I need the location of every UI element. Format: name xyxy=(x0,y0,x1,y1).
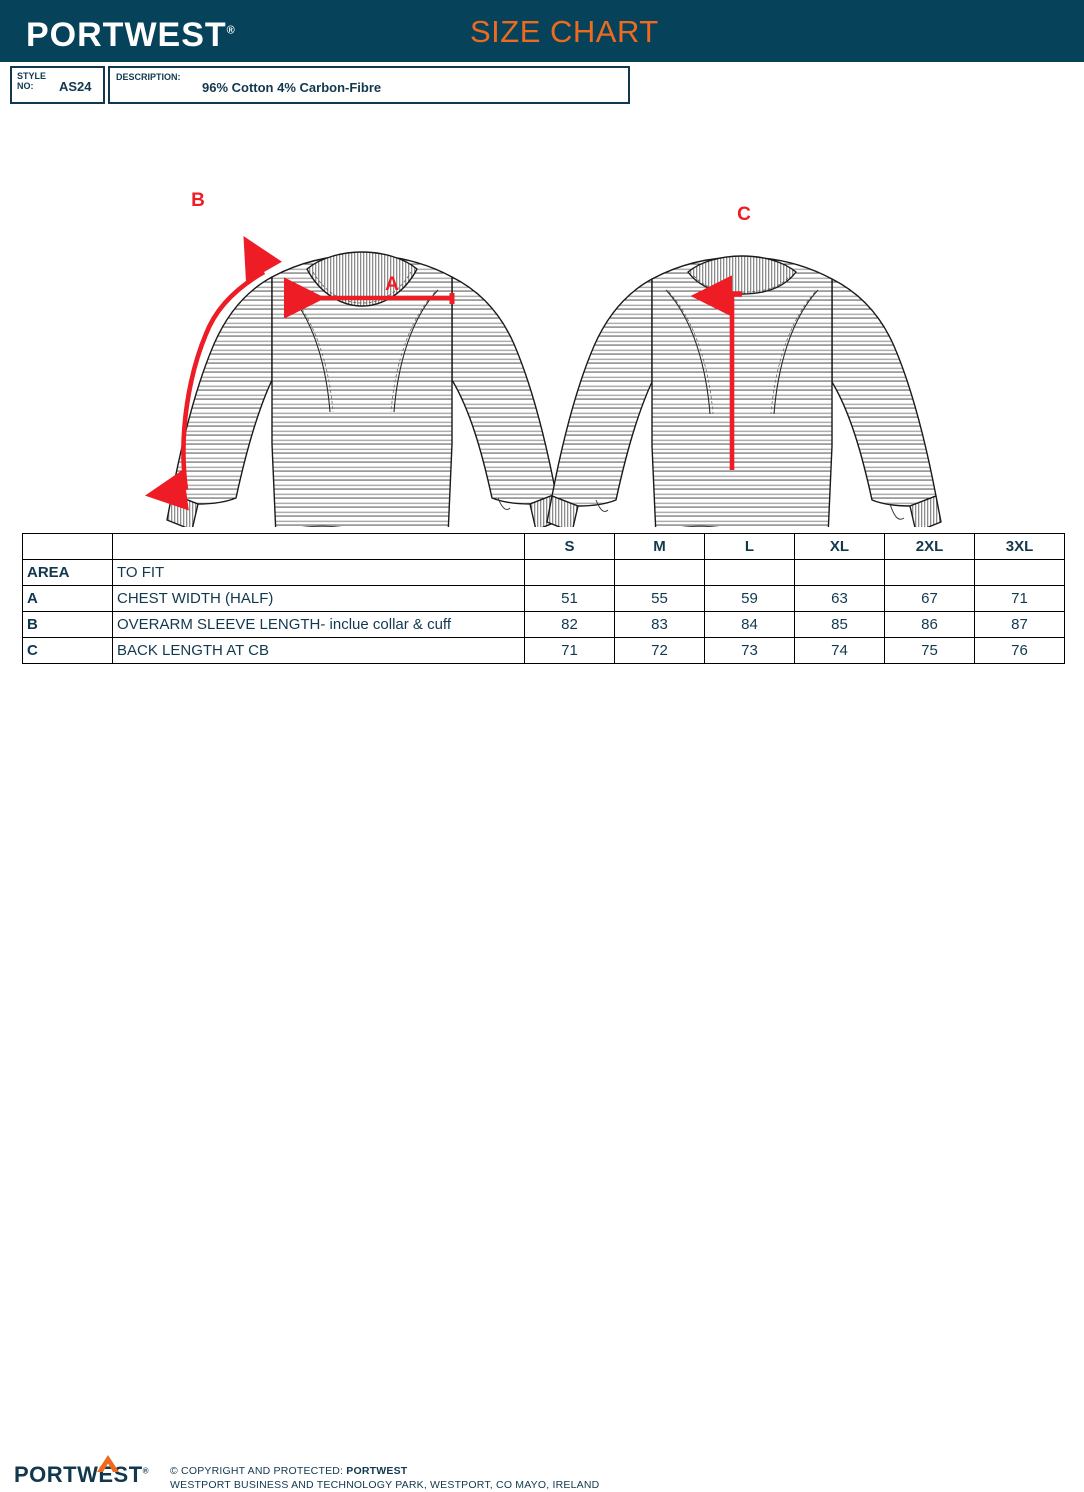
empty-cell xyxy=(525,560,615,586)
row-a-value-3xl: 71 xyxy=(975,586,1065,612)
empty-cell xyxy=(113,534,525,560)
row-b-value-2xl: 86 xyxy=(885,612,975,638)
copyright-block: © COPYRIGHT AND PROTECTED: PORTWEST WEST… xyxy=(170,1464,599,1492)
empty-cell xyxy=(885,560,975,586)
table-row: A CHEST WIDTH (HALF) 51 55 59 63 67 71 xyxy=(23,586,1065,612)
row-b-value-s: 82 xyxy=(525,612,615,638)
style-no-label: STYLE NO: xyxy=(17,71,46,91)
size-header-m: M xyxy=(615,534,705,560)
label-a: A xyxy=(385,274,399,295)
table-row: B OVERARM SLEEVE LENGTH- inclue collar &… xyxy=(23,612,1065,638)
row-b-value-m: 83 xyxy=(615,612,705,638)
portwest-logo-header: PORTWEST® xyxy=(26,18,235,52)
row-c-value-l: 73 xyxy=(705,638,795,664)
table-row-tofit: AREA TO FIT xyxy=(23,560,1065,586)
portwest-logo-footer: PORTWEST® xyxy=(14,1464,149,1486)
row-c-value-3xl: 76 xyxy=(975,638,1065,664)
label-b: B xyxy=(191,190,205,211)
row-code-b: B xyxy=(23,612,113,638)
row-a-value-m: 55 xyxy=(615,586,705,612)
description-box: DESCRIPTION: 96% Cotton 4% Carbon-Fibre xyxy=(108,66,630,104)
style-no-box: STYLE NO: AS24 xyxy=(10,66,105,104)
garment-front-view xyxy=(167,252,561,527)
size-header-3xl: 3XL xyxy=(975,534,1065,560)
description-label: DESCRIPTION: xyxy=(116,72,181,82)
tofit-header: TO FIT xyxy=(113,560,525,586)
page-header: PORTWEST® SIZE CHART xyxy=(0,0,1084,62)
row-a-value-xl: 63 xyxy=(795,586,885,612)
label-c: C xyxy=(737,204,751,225)
row-a-value-l: 59 xyxy=(705,586,795,612)
row-c-value-xl: 74 xyxy=(795,638,885,664)
row-label-b: OVERARM SLEEVE LENGTH- inclue collar & c… xyxy=(113,612,525,638)
description-value: 96% Cotton 4% Carbon-Fibre xyxy=(202,80,381,95)
address-line: WESTPORT BUSINESS AND TECHNOLOGY PARK, W… xyxy=(170,1479,599,1491)
brand-text: PORTWEST xyxy=(26,16,227,54)
row-c-value-2xl: 75 xyxy=(885,638,975,664)
row-c-value-m: 72 xyxy=(615,638,705,664)
table-header-row: S M L XL 2XL 3XL xyxy=(23,534,1065,560)
row-a-value-s: 51 xyxy=(525,586,615,612)
size-chart-table: S M L XL 2XL 3XL AREA TO FIT A CHEST WID… xyxy=(22,533,1065,664)
empty-cell xyxy=(975,560,1065,586)
style-no-value: AS24 xyxy=(59,79,92,94)
row-b-value-xl: 85 xyxy=(795,612,885,638)
page-title: SIZE CHART xyxy=(470,16,659,47)
row-label-a: CHEST WIDTH (HALF) xyxy=(113,586,525,612)
size-header-l: L xyxy=(705,534,795,560)
size-header-s: S xyxy=(525,534,615,560)
empty-cell xyxy=(615,560,705,586)
garment-illustrations: A B C xyxy=(0,112,1084,527)
row-a-value-2xl: 67 xyxy=(885,586,975,612)
row-code-c: C xyxy=(23,638,113,664)
registered-mark-icon: ® xyxy=(227,25,235,37)
copyright-line: © COPYRIGHT AND PROTECTED: PORTWEST xyxy=(170,1465,407,1477)
empty-cell xyxy=(23,534,113,560)
row-c-value-s: 71 xyxy=(525,638,615,664)
size-header-xl: XL xyxy=(795,534,885,560)
row-b-value-l: 84 xyxy=(705,612,795,638)
row-b-value-3xl: 87 xyxy=(975,612,1065,638)
garment-back-view xyxy=(547,256,941,527)
empty-cell xyxy=(795,560,885,586)
page-footer: PORTWEST® © COPYRIGHT AND PROTECTED: POR… xyxy=(0,726,1084,771)
size-header-2xl: 2XL xyxy=(885,534,975,560)
registered-mark-icon: ® xyxy=(143,1467,149,1476)
portwest-chevron-icon xyxy=(88,1455,128,1473)
area-header: AREA xyxy=(23,560,113,586)
row-label-c: BACK LENGTH AT CB xyxy=(113,638,525,664)
table-row: C BACK LENGTH AT CB 71 72 73 74 75 76 xyxy=(23,638,1065,664)
empty-cell xyxy=(705,560,795,586)
row-code-a: A xyxy=(23,586,113,612)
